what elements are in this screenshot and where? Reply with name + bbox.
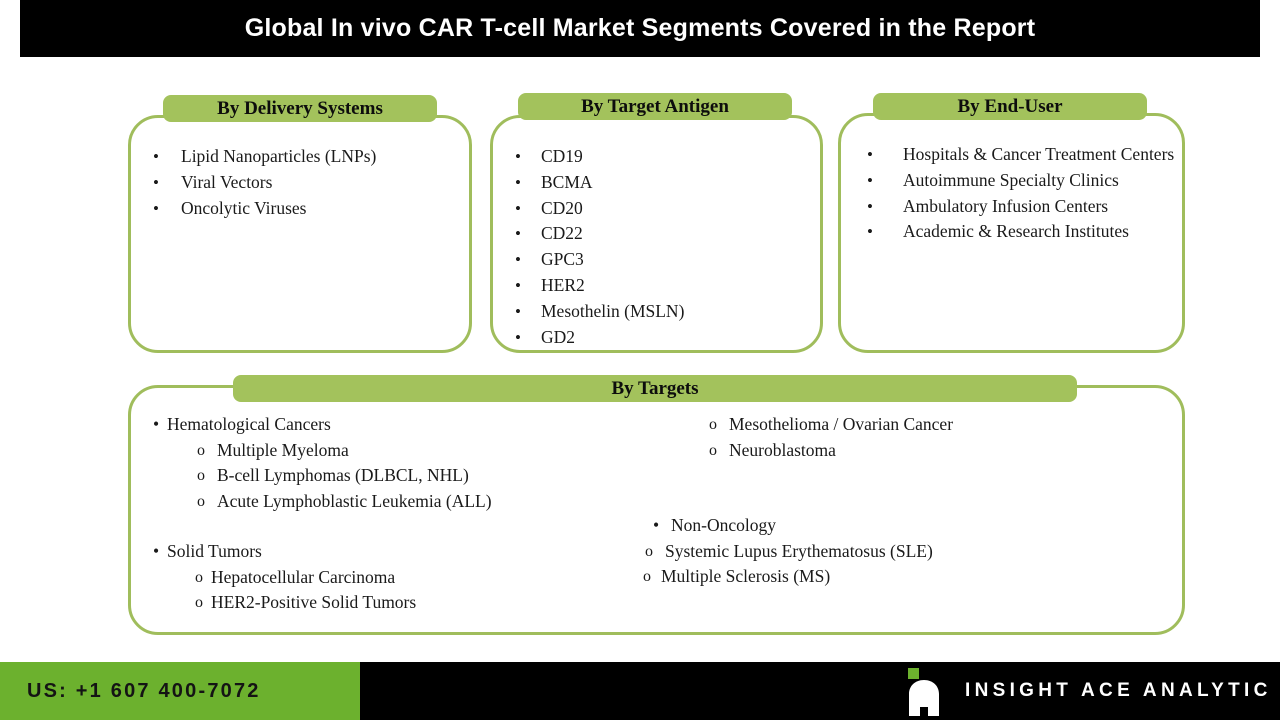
targets-spacer <box>641 488 1161 513</box>
card-header-label: By Delivery Systems <box>217 98 383 120</box>
contact-phone: US: +1 607 400-7072 <box>27 680 261 703</box>
list-item: GD2 <box>493 325 820 351</box>
list-item: HER2 <box>493 273 820 299</box>
targets-line: Multiple Sclerosis (MS) <box>641 564 1161 590</box>
list-item: Oncolytic Viruses <box>131 196 469 222</box>
insight-ace-logo-icon <box>901 666 947 716</box>
targets-spacer <box>145 514 645 539</box>
targets-spacer <box>641 463 1161 488</box>
footer-black-bar: INSIGHT ACE ANALYTIC <box>360 662 1280 720</box>
logo-letter-a-icon <box>901 680 945 716</box>
delivery-systems-list: Lipid Nanoparticles (LNPs) Viral Vectors… <box>131 144 469 221</box>
card-header-delivery-systems: By Delivery Systems <box>163 95 437 122</box>
list-item: CD22 <box>493 221 820 247</box>
targets-line: Systemic Lupus Erythematosus (SLE) <box>641 539 1161 565</box>
targets-line: Acute Lymphoblastic Leukemia (ALL) <box>145 489 645 515</box>
list-item: BCMA <box>493 170 820 196</box>
targets-line: B-cell Lymphomas (DLBCL, NHL) <box>145 463 645 489</box>
targets-line: Hematological Cancers <box>145 412 645 438</box>
target-antigen-list: CD19 BCMA CD20 CD22 GPC3 HER2 Mesothelin… <box>493 144 820 350</box>
card-target-antigen: CD19 BCMA CD20 CD22 GPC3 HER2 Mesothelin… <box>490 115 823 353</box>
brand-logo: INSIGHT ACE ANALYTIC <box>901 662 1272 720</box>
list-item: Autoimmune Specialty Clinics <box>841 168 1182 194</box>
targets-line: Mesothelioma / Ovarian Cancer <box>641 412 1161 438</box>
card-header-end-user: By End-User <box>873 93 1147 120</box>
targets-left-column: Hematological Cancers Multiple Myeloma B… <box>145 412 645 616</box>
card-header-label: By Targets <box>611 378 698 400</box>
list-item: Lipid Nanoparticles (LNPs) <box>131 144 469 170</box>
targets-line: HER2-Positive Solid Tumors <box>145 590 645 616</box>
logo-green-square-icon <box>908 668 919 679</box>
list-item: Ambulatory Infusion Centers <box>841 194 1182 220</box>
card-end-user: Hospitals & Cancer Treatment Centers Aut… <box>838 113 1185 353</box>
brand-name: INSIGHT ACE ANALYTIC <box>965 680 1272 702</box>
card-header-target-antigen: By Target Antigen <box>518 93 792 120</box>
list-item: Mesothelin (MSLN) <box>493 299 820 325</box>
card-delivery-systems: Lipid Nanoparticles (LNPs) Viral Vectors… <box>128 115 472 353</box>
card-header-label: By Target Antigen <box>581 96 729 118</box>
list-item: CD19 <box>493 144 820 170</box>
list-item: Hospitals & Cancer Treatment Centers <box>841 142 1182 168</box>
targets-line: Neuroblastoma <box>641 438 1161 464</box>
end-user-list: Hospitals & Cancer Treatment Centers Aut… <box>841 142 1182 245</box>
targets-line: Solid Tumors <box>145 539 645 565</box>
targets-line: Hepatocellular Carcinoma <box>145 565 645 591</box>
list-item: CD20 <box>493 196 820 222</box>
footer-green-bar: US: +1 607 400-7072 <box>0 662 360 720</box>
list-item: GPC3 <box>493 247 820 273</box>
targets-line: Multiple Myeloma <box>145 438 645 464</box>
card-header-targets: By Targets <box>233 375 1077 402</box>
targets-right-column: Mesothelioma / Ovarian Cancer Neuroblast… <box>641 412 1161 590</box>
list-item: Academic & Research Institutes <box>841 219 1182 245</box>
list-item: Viral Vectors <box>131 170 469 196</box>
card-targets: Hematological Cancers Multiple Myeloma B… <box>128 385 1185 635</box>
page-title-bar: Global In vivo CAR T-cell Market Segment… <box>20 0 1260 57</box>
card-header-label: By End-User <box>957 96 1062 118</box>
targets-line: Non-Oncology <box>641 513 1161 539</box>
targets-columns: Hematological Cancers Multiple Myeloma B… <box>131 412 1182 656</box>
page-title: Global In vivo CAR T-cell Market Segment… <box>245 14 1036 43</box>
